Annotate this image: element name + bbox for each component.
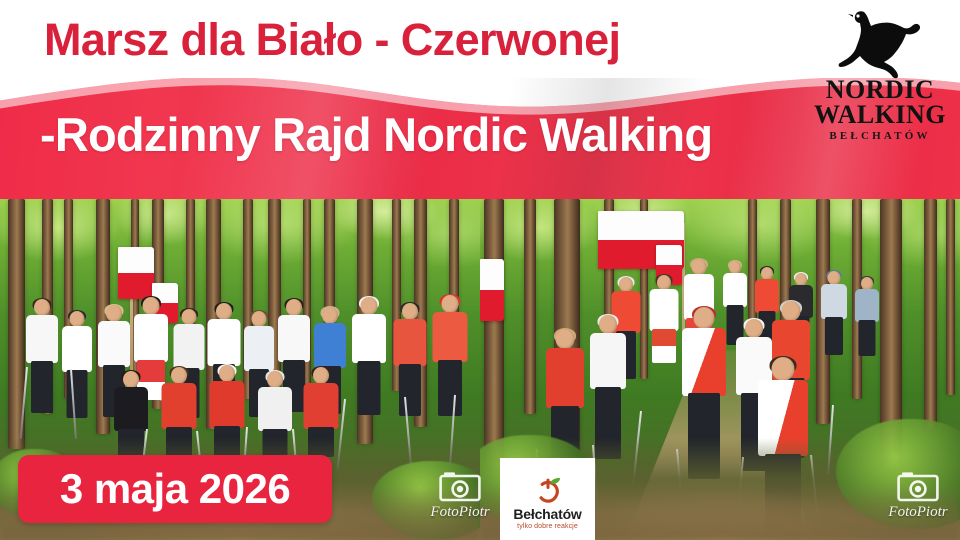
camera-icon (897, 470, 939, 502)
ostrich-icon (834, 4, 926, 82)
apple-power-icon (533, 473, 563, 503)
page-title-primary: Marsz dla Biało - Czerwonej (44, 14, 764, 66)
page-title-secondary: -Rodzinny Rajd Nordic Walking (40, 107, 840, 162)
nordic-logo-word-walking: WALKING (812, 103, 948, 128)
camera-icon (439, 470, 481, 502)
photo-watermark-center: FotoPiotr (418, 470, 502, 534)
photo-watermark-right: FotoPiotr (876, 470, 960, 534)
event-date-text: 3 maja 2026 (60, 465, 290, 513)
watermark-text-center: FotoPiotr (418, 504, 502, 521)
city-logo-name: Bełchatów (513, 506, 581, 522)
nordic-logo-city: BEŁCHATÓW (812, 130, 948, 142)
watermark-text-right: FotoPiotr (876, 504, 960, 521)
nordic-walking-logo: NORDIC WALKING BEŁCHATÓW (812, 4, 948, 152)
event-date-badge: 3 maja 2026 (18, 455, 332, 523)
belchatow-city-logo: Bełchatów tylko dobre reakcje (500, 458, 595, 540)
header-flag-banner: Marsz dla Biało - Czerwonej -Rodzinny Ra… (0, 0, 960, 199)
poster-root: Marsz dla Biało - Czerwonej -Rodzinny Ra… (0, 0, 960, 540)
city-logo-tagline: tylko dobre reakcje (517, 523, 578, 530)
